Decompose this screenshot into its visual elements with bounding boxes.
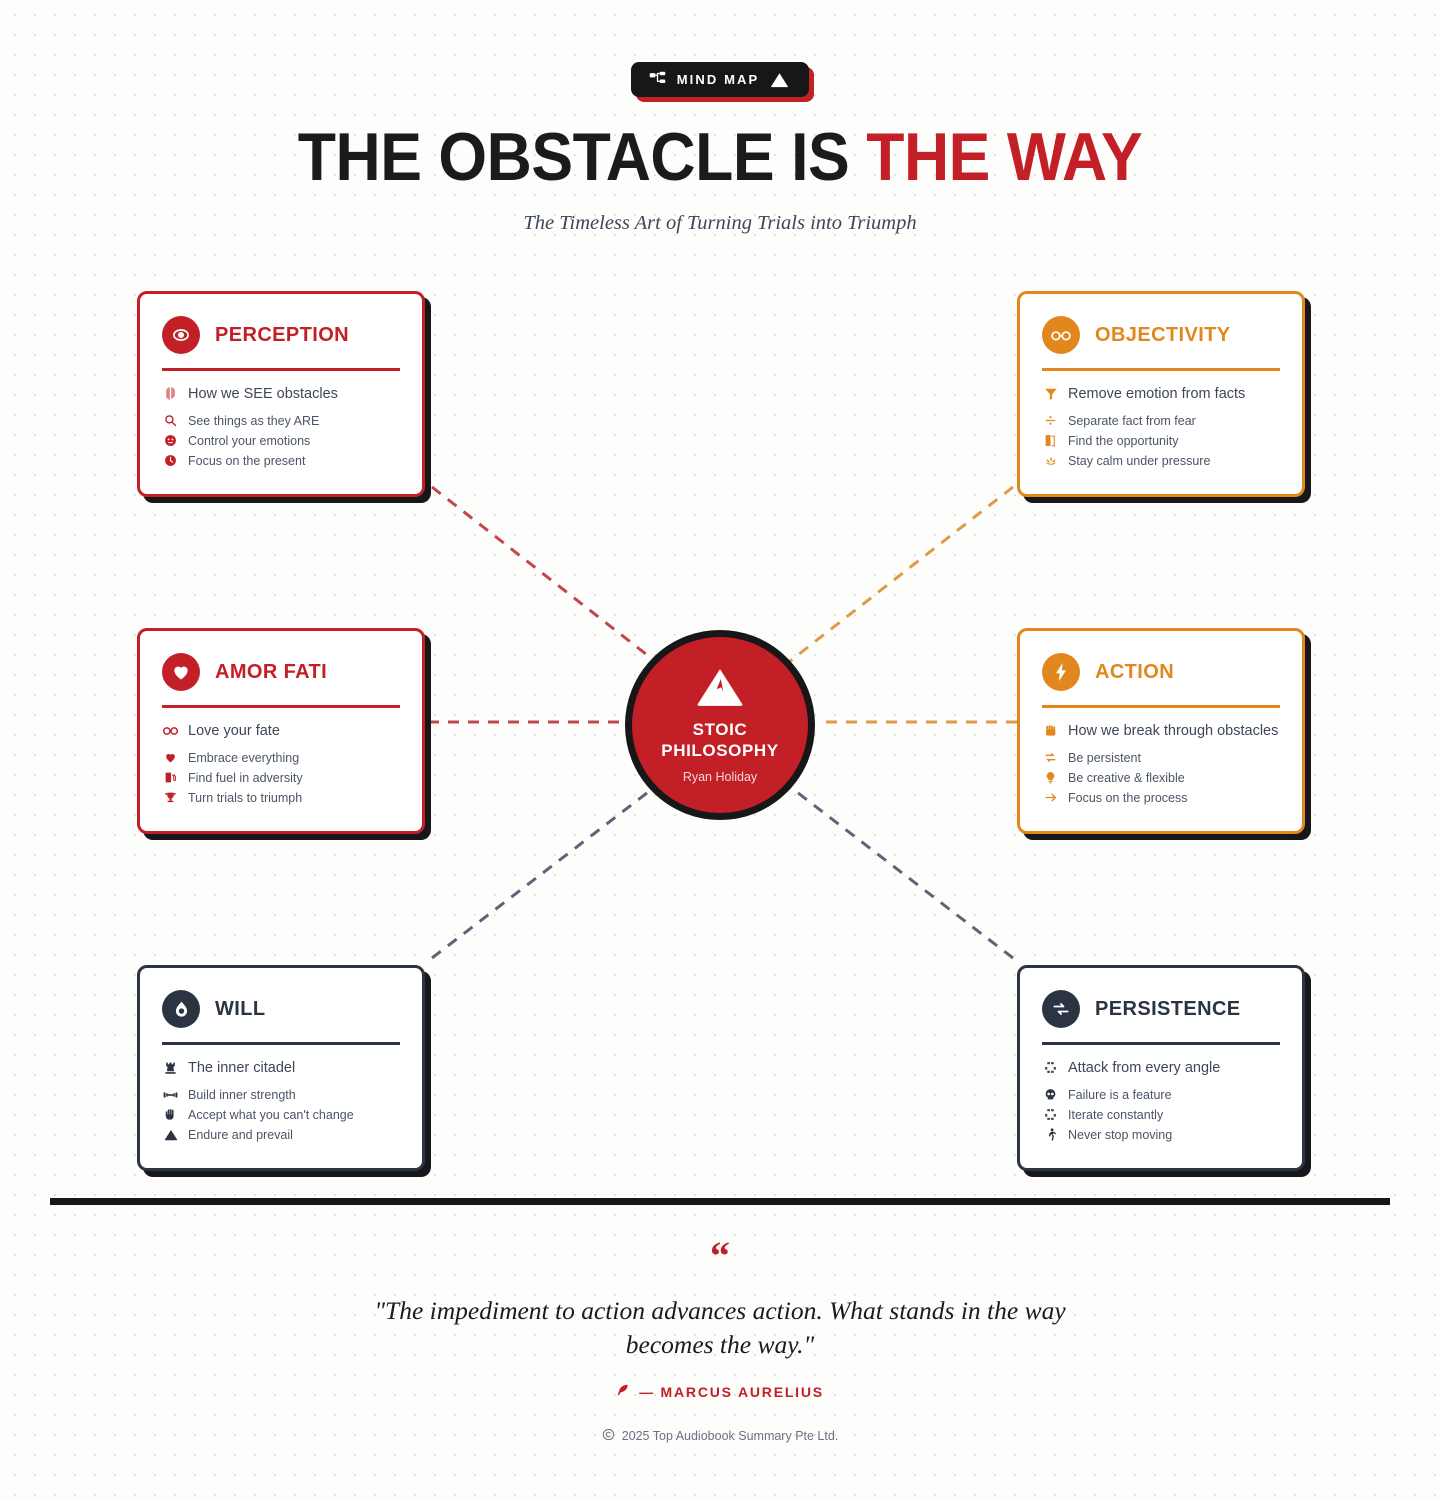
branch-card-persistence[interactable]: PERSISTENCE Attack from every angle Fail…	[1017, 965, 1305, 1171]
card-title: AMOR FATI	[215, 661, 327, 684]
card-item-label: Be persistent	[1068, 751, 1141, 765]
quote-text: "The impediment to action advances actio…	[340, 1294, 1100, 1361]
recycle-icon	[1042, 1061, 1059, 1074]
card-item-label: Control your emotions	[188, 434, 310, 448]
copyright-icon	[602, 1428, 615, 1444]
card-item-label: Stay calm under pressure	[1068, 454, 1210, 468]
branch-card-will[interactable]: WILL The inner citadel Build inner stren…	[137, 965, 425, 1171]
card-item-label: Accept what you can't change	[188, 1108, 354, 1122]
lightbulb-icon	[1042, 771, 1059, 784]
center-hub: STOIC PHILOSOPHY Ryan Holiday	[625, 630, 815, 820]
title-accent: THE WAY	[866, 119, 1142, 195]
card-main-row: Remove emotion from facts	[1042, 386, 1280, 402]
attribution-label: — MARCUS AURELIUS	[639, 1384, 824, 1400]
card-item-label: Focus on the present	[188, 454, 305, 468]
card-item: Separate fact from fear	[1042, 414, 1280, 428]
page-subtitle: The Timeless Art of Turning Trials into …	[0, 212, 1440, 235]
card-item: Focus on the present	[162, 454, 400, 468]
quote-mark-icon: “	[0, 1236, 1440, 1276]
glasses-icon	[1042, 316, 1080, 354]
mountain-icon	[770, 72, 789, 88]
card-main-label: How we SEE obstacles	[188, 386, 338, 402]
copyright-label: 2025 Top Audiobook Summary Pte Ltd.	[622, 1429, 839, 1443]
card-item: Never stop moving	[1042, 1128, 1280, 1142]
magnifier-icon	[162, 414, 179, 427]
mind-map-badge: MIND MAP	[631, 62, 810, 97]
card-divider	[1042, 705, 1280, 708]
card-item: Control your emotions	[162, 434, 400, 448]
card-item-label: Failure is a feature	[1068, 1088, 1172, 1102]
card-main-row: Love your fate	[162, 723, 400, 739]
card-item: Iterate constantly	[1042, 1108, 1280, 1122]
page-header: MIND MAP THE OBSTACLE IS THE WAY The Tim…	[0, 0, 1440, 235]
bolt-icon	[1042, 653, 1080, 691]
brain-icon	[162, 386, 179, 401]
card-main-row: How we SEE obstacles	[162, 386, 400, 402]
mountain-icon	[162, 1129, 179, 1141]
card-item-label: Embrace everything	[188, 751, 299, 765]
hub-title-line2: PHILOSOPHY	[661, 741, 778, 762]
flame-drop-icon	[162, 990, 200, 1028]
dumbbell-icon	[162, 1089, 179, 1101]
card-item: Be creative & flexible	[1042, 771, 1280, 785]
card-item-label: Iterate constantly	[1068, 1108, 1163, 1122]
page-footer: “ "The impediment to action advances act…	[0, 1236, 1440, 1444]
branch-card-objectivity[interactable]: OBJECTIVITY Remove emotion from facts Se…	[1017, 291, 1305, 497]
card-main-label: Remove emotion from facts	[1068, 386, 1245, 402]
door-open-icon	[1042, 434, 1059, 447]
mindmap-node-icon	[649, 71, 666, 88]
card-item: Focus on the process	[1042, 791, 1280, 805]
card-item-label: Endure and prevail	[188, 1128, 293, 1142]
connector-perception	[432, 487, 660, 665]
card-item: Be persistent	[1042, 751, 1280, 765]
card-item-label: Never stop moving	[1068, 1128, 1172, 1142]
card-title: ACTION	[1095, 661, 1174, 684]
card-main-row: How we break through obstacles	[1042, 723, 1280, 739]
branch-card-perception[interactable]: PERCEPTION How we SEE obstacles See thin…	[137, 291, 425, 497]
connector-objectivity	[785, 487, 1013, 665]
connector-persistence	[785, 783, 1013, 958]
card-divider	[1042, 1042, 1280, 1045]
repeat-icon	[1042, 751, 1059, 764]
badge-label: MIND MAP	[677, 73, 760, 86]
eye-icon	[162, 316, 200, 354]
card-main-label: How we break through obstacles	[1068, 723, 1278, 739]
card-main-row: The inner citadel	[162, 1060, 400, 1076]
card-divider	[162, 1042, 400, 1045]
card-item-label: See things as they ARE	[188, 414, 319, 428]
card-item: Build inner strength	[162, 1088, 400, 1102]
copyright-line: 2025 Top Audiobook Summary Pte Ltd.	[0, 1428, 1440, 1444]
card-item-label: Build inner strength	[188, 1088, 296, 1102]
lotus-icon	[1042, 454, 1059, 467]
skull-icon	[1042, 1088, 1059, 1101]
branch-card-action[interactable]: ACTION How we break through obstacles Be…	[1017, 628, 1305, 834]
funnel-icon	[1042, 387, 1059, 401]
divide-icon	[1042, 414, 1059, 427]
connector-will	[432, 783, 660, 958]
card-main-label: Love your fate	[188, 723, 280, 739]
card-item-label: Find the opportunity	[1068, 434, 1179, 448]
card-main-label: The inner citadel	[188, 1060, 295, 1076]
clock-icon	[162, 454, 179, 467]
card-item-label: Find fuel in adversity	[188, 771, 303, 785]
card-item: See things as they ARE	[162, 414, 400, 428]
card-main-row: Attack from every angle	[1042, 1060, 1280, 1076]
card-item: Endure and prevail	[162, 1128, 400, 1142]
card-item: Turn trials to triumph	[162, 791, 400, 805]
hub-author: Ryan Holiday	[683, 770, 757, 784]
chess-rook-icon	[162, 1061, 179, 1075]
card-title: OBJECTIVITY	[1095, 324, 1231, 347]
recycle-icon	[1042, 990, 1080, 1028]
heart-icon	[162, 653, 200, 691]
heart-icon	[162, 751, 179, 764]
card-item: Find the opportunity	[1042, 434, 1280, 448]
card-main-label: Attack from every angle	[1068, 1060, 1220, 1076]
footer-divider	[50, 1198, 1390, 1205]
quote-attribution: — MARCUS AURELIUS	[0, 1383, 1440, 1400]
branch-card-amor-fati[interactable]: AMOR FATI Love your fate Embrace everyth…	[137, 628, 425, 834]
running-icon	[1042, 1128, 1059, 1141]
title-main: THE OBSTACLE IS	[298, 119, 866, 195]
card-item: Accept what you can't change	[162, 1108, 400, 1122]
feather-icon	[616, 1383, 630, 1400]
card-divider	[162, 368, 400, 371]
mountain-icon	[694, 666, 746, 713]
neutral-face-icon	[162, 434, 179, 447]
card-title: PERSISTENCE	[1095, 998, 1241, 1021]
arrow-right-icon	[1042, 791, 1059, 804]
card-item: Stay calm under pressure	[1042, 454, 1280, 468]
card-item-label: Be creative & flexible	[1068, 771, 1185, 785]
open-hand-icon	[162, 1108, 179, 1121]
card-title: PERCEPTION	[215, 324, 349, 347]
recycle-icon	[1042, 1108, 1059, 1121]
card-title: WILL	[215, 998, 265, 1021]
fuel-pump-icon	[162, 771, 179, 784]
card-item-label: Focus on the process	[1068, 791, 1188, 805]
trophy-icon	[162, 791, 179, 804]
infinity-icon	[162, 724, 179, 738]
page-title: THE OBSTACLE IS THE WAY	[58, 123, 1383, 192]
card-item-label: Turn trials to triumph	[188, 791, 302, 805]
card-item-label: Separate fact from fear	[1068, 414, 1196, 428]
hub-title-line1: STOIC	[661, 720, 778, 741]
card-divider	[1042, 368, 1280, 371]
card-item: Failure is a feature	[1042, 1088, 1280, 1102]
card-item: Find fuel in adversity	[162, 771, 400, 785]
fist-icon	[1042, 724, 1059, 738]
card-divider	[162, 705, 400, 708]
card-item: Embrace everything	[162, 751, 400, 765]
